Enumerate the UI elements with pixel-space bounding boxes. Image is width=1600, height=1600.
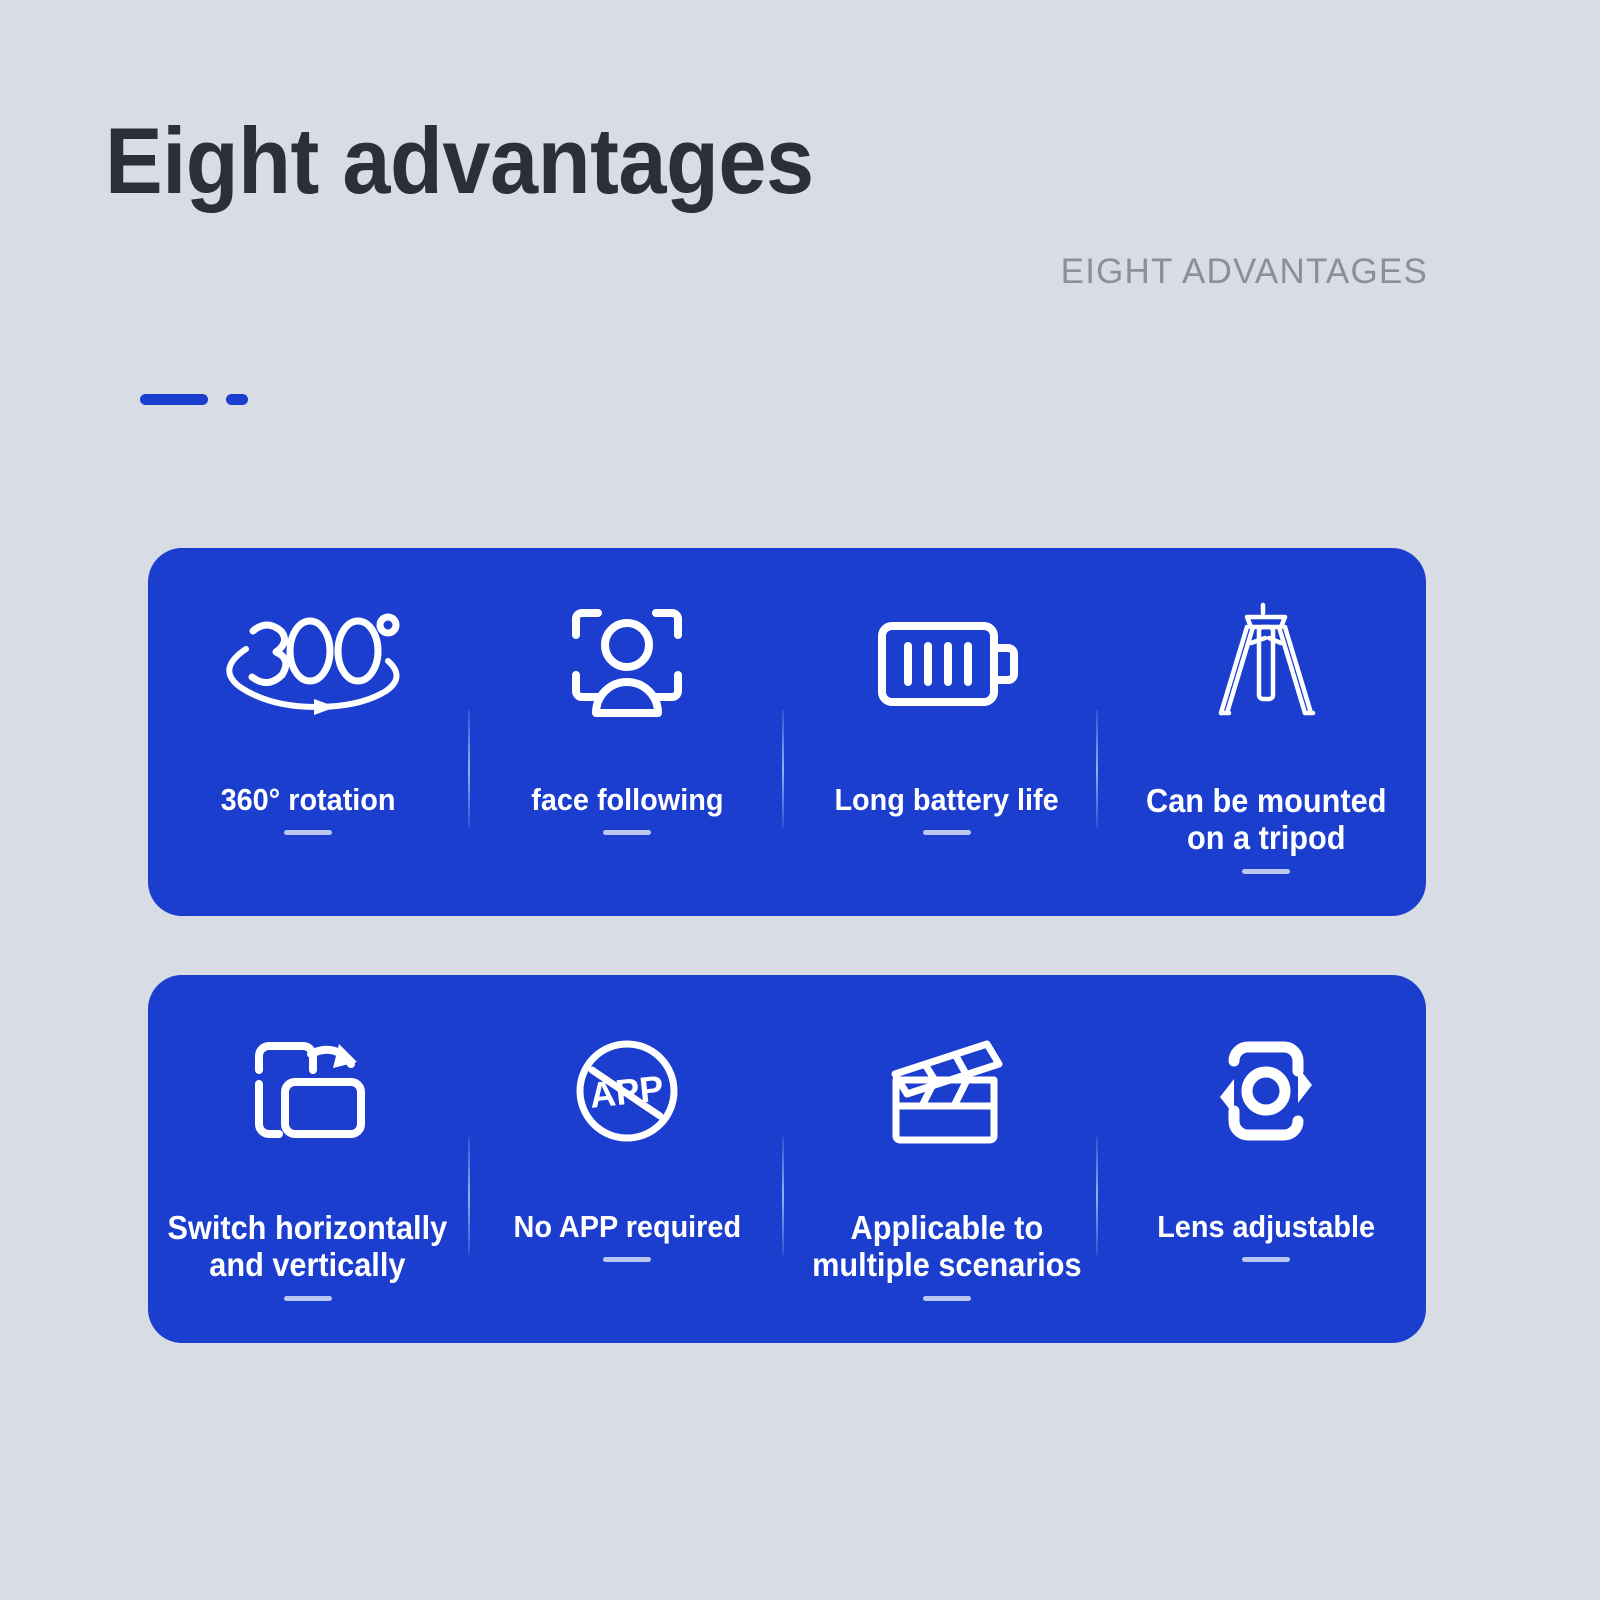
dash-long-decoration [140, 394, 208, 405]
dash-short-decoration [226, 394, 248, 405]
advantage-item-tripod-mount[interactable]: Can be mounted on a tripod [1107, 548, 1427, 916]
label-underline [603, 1257, 651, 1262]
page-title: Eight advantages [105, 112, 814, 211]
advantage-item-switch-orientation[interactable]: Switch horizontally and vertically [148, 975, 468, 1343]
face-following-icon [568, 596, 686, 731]
advantage-label: 360° rotation [220, 783, 395, 818]
decorative-dashes [140, 394, 248, 405]
label-underline [284, 1296, 332, 1301]
360-rotation-icon [210, 596, 406, 731]
no-app-icon: APP [572, 1023, 682, 1158]
camera-flip-icon [1204, 1023, 1328, 1158]
tripod-icon [1211, 596, 1321, 731]
label-underline [603, 830, 651, 835]
label-underline [923, 830, 971, 835]
label-underline [1242, 1257, 1290, 1262]
page-subtitle: EIGHT ADVANTAGES [1061, 252, 1428, 292]
clapperboard-icon [882, 1023, 1012, 1158]
advantage-label: Switch horizontally and vertically [168, 1210, 448, 1284]
advantage-item-battery-life[interactable]: Long battery life [787, 548, 1107, 916]
advantage-label: Applicable to multiple scenarios [812, 1210, 1081, 1284]
advantage-item-lens-adjustable[interactable]: Lens adjustable [1107, 975, 1427, 1343]
screen-rotate-icon [247, 1023, 369, 1158]
advantage-label: Long battery life [835, 783, 1059, 818]
advantage-item-no-app[interactable]: APP No APP required [468, 975, 788, 1343]
advantage-item-face-following[interactable]: face following [468, 548, 788, 916]
label-underline [923, 1296, 971, 1301]
advantages-card-two: Switch horizontally and vertically APP N… [148, 975, 1426, 1343]
advantage-item-multiple-scenarios[interactable]: Applicable to multiple scenarios [787, 975, 1107, 1343]
advantage-label: Lens adjustable [1157, 1210, 1375, 1245]
label-underline [1242, 869, 1290, 874]
advantage-label: No APP required [513, 1210, 740, 1245]
label-underline [284, 830, 332, 835]
page-header: Eight advantages EIGHT ADVANTAGES [0, 0, 1600, 470]
advantages-card-one: 360° rotation face following [148, 548, 1426, 916]
advantage-item-360-rotation[interactable]: 360° rotation [148, 548, 468, 916]
svg-text:APP: APP [588, 1067, 666, 1116]
advantage-label: Can be mounted on a tripod [1146, 783, 1386, 857]
advantage-label: face following [531, 783, 723, 818]
battery-icon [876, 596, 1018, 731]
